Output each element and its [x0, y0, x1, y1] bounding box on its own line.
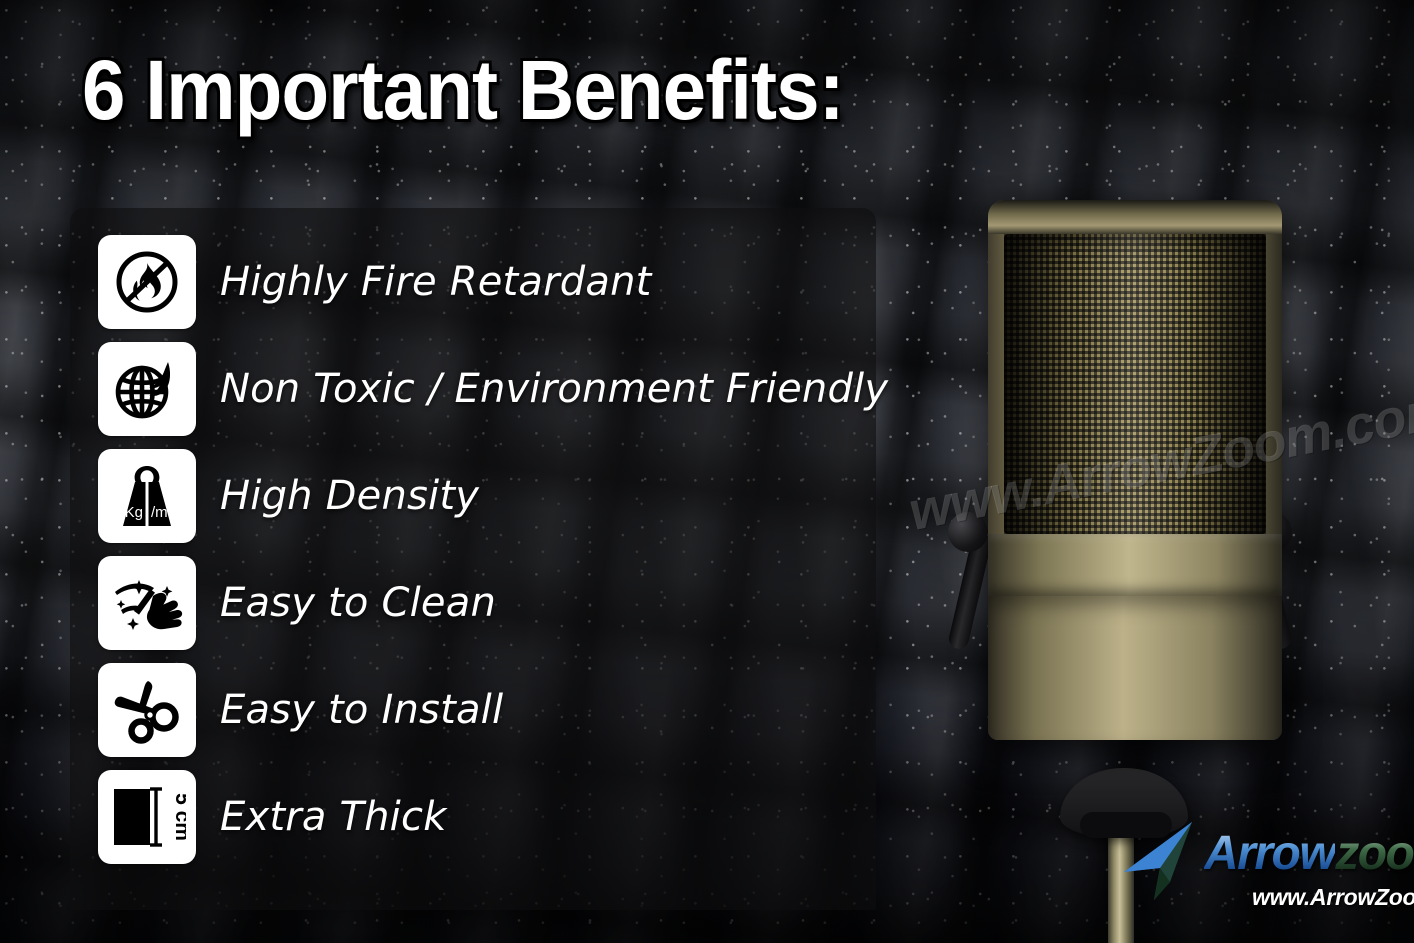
weight-density-icon: 25Kg /m 3 — [106, 460, 188, 532]
mic-mesh-grille — [1004, 234, 1266, 534]
benefit-row-non-toxic: Non Toxic / Environment Friendly — [98, 335, 878, 442]
benefit-row-extra-thick: 5 cm Extra Thick — [98, 763, 878, 870]
arrow-mark-icon — [1120, 820, 1212, 904]
logo-wordmark: Arrowzoom — [1204, 830, 1414, 878]
benefit-row-high-density: 25Kg /m 3 High Density — [98, 442, 878, 549]
wiping-hand-icon — [109, 568, 185, 638]
benefit-label-easy-install: Easy to Install — [220, 687, 503, 733]
benefit-label-fire-retardant: Highly Fire Retardant — [220, 259, 652, 305]
scissors-icon — [110, 675, 184, 745]
benefit-label-easy-clean: Easy to Clean — [220, 580, 496, 626]
brand-logo[interactable]: Arrowzoom www.ArrowZoom.com — [1120, 818, 1402, 922]
mic-lower-barrel — [988, 596, 1282, 740]
icon-tile-5 — [98, 663, 196, 757]
benefit-label-extra-thick: Extra Thick — [220, 794, 447, 840]
globe-leaf-icon — [110, 354, 184, 424]
mic-grille-shading — [1004, 234, 1266, 534]
logo-word-zoom: zoom — [1335, 827, 1414, 880]
icon-tile-4 — [98, 556, 196, 650]
benefit-row-easy-install: Easy to Install — [98, 656, 878, 763]
benefit-row-easy-clean: Easy to Clean — [98, 549, 878, 656]
density-exponent-text: 3 — [170, 501, 176, 513]
icon-tile-2 — [98, 342, 196, 436]
mic-top-cap — [988, 200, 1282, 234]
mic-mount-knob-left — [948, 512, 988, 552]
icon-tile-1 — [98, 235, 196, 329]
mic-center-band — [988, 534, 1282, 596]
density-unit-text: /m — [151, 504, 168, 521]
density-value-text: 25Kg — [108, 504, 143, 521]
mic-body — [988, 200, 1282, 740]
benefit-label-high-density: High Density — [220, 473, 479, 519]
logo-word-arrow: Arrow — [1204, 827, 1335, 880]
product-benefits-banner: www.ArrowZoom.com 6 Important Benefits: … — [0, 0, 1414, 943]
benefit-label-non-toxic: Non Toxic / Environment Friendly — [220, 366, 888, 412]
icon-tile-6: 5 cm — [98, 770, 196, 864]
logo-url-text[interactable]: www.ArrowZoom.com — [1252, 884, 1414, 911]
thickness-text: 5 cm — [171, 793, 186, 841]
benefits-list: Highly Fire Retardant Non Toxic / E — [98, 228, 878, 870]
no-fire-icon — [110, 247, 184, 317]
benefit-row-fire-retardant: Highly Fire Retardant — [98, 228, 878, 335]
thickness-ruler-icon: 5 cm — [108, 781, 186, 853]
icon-tile-3: 25Kg /m 3 — [98, 449, 196, 543]
page-title: 6 Important Benefits: — [82, 48, 844, 132]
